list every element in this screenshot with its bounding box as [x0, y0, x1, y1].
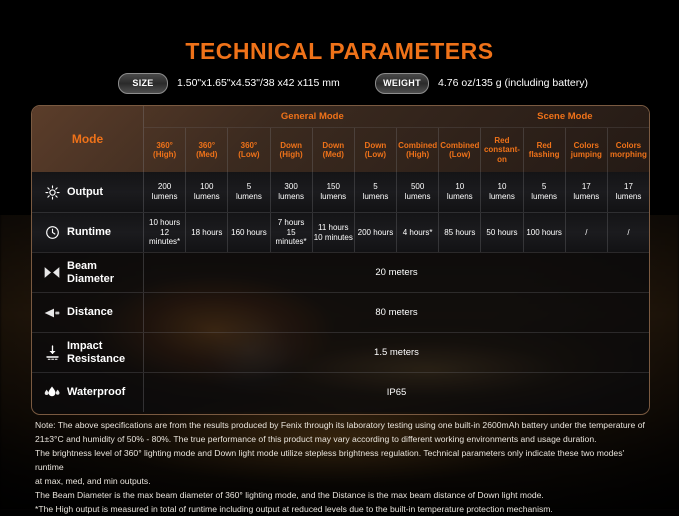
row-label-cell: Runtime	[32, 213, 144, 252]
row-label-text: BeamDiameter	[67, 260, 114, 285]
footnote-line: The brightness level of 360° lighting mo…	[35, 447, 647, 475]
mode-column-header: 360°(Low)	[227, 128, 269, 172]
mode-column-header: Down(High)	[270, 128, 312, 172]
table-row: BeamDiameter20 meters	[32, 252, 649, 292]
row-label-cell: Waterproof	[32, 373, 144, 412]
data-cell: 160 hours	[227, 213, 269, 252]
data-cell: 10lumens	[438, 172, 480, 212]
footnote-line: Note: The above specifications are from …	[35, 419, 647, 433]
table-body: Output200lumens100lumens5lumens300lumens…	[32, 172, 649, 412]
data-cell: 300lumens	[270, 172, 312, 212]
footnote-line: *The High output is measured in total of…	[35, 503, 647, 516]
data-cell: 50 hours	[480, 213, 522, 252]
data-cell: /	[565, 213, 607, 252]
data-cell: 100 hours	[523, 213, 565, 252]
data-cell: 5lumens	[523, 172, 565, 212]
mode-column-header: Redflashing	[523, 128, 565, 172]
spec-summary-bar: SIZE 1.50"x1.65"x4.53"/38 x42 x115 mm WE…	[0, 70, 679, 96]
table-row: Distance80 meters	[32, 292, 649, 332]
row-label-text: Waterproof	[67, 386, 125, 399]
data-cell: 18 hours	[185, 213, 227, 252]
data-cell: 100lumens	[185, 172, 227, 212]
mode-column-header: Down(Med)	[312, 128, 354, 172]
mode-column-header: Redconstant-on	[480, 128, 522, 172]
merged-value-cell: 80 meters	[144, 293, 649, 332]
data-cell: 200 hours	[354, 213, 396, 252]
sun-icon	[44, 185, 60, 200]
row-label-text: ImpactResistance	[67, 340, 125, 365]
row-label-text: Runtime	[67, 226, 111, 239]
footnotes: Note: The above specifications are from …	[35, 419, 647, 516]
mode-column-header: Combined(Low)	[438, 128, 480, 172]
specifications-table: Mode General Mode Scene Mode 360°(High)3…	[31, 105, 650, 415]
footnote-line: at max, med, and min outputs.	[35, 475, 647, 489]
table-row: Output200lumens100lumens5lumens300lumens…	[32, 172, 649, 212]
footnote-line: 21±3°C and humidity of 50% - 80%. The tr…	[35, 433, 647, 447]
row-label-cell: Output	[32, 172, 144, 212]
impact-icon	[44, 345, 60, 361]
row-label-cell: BeamDiameter	[32, 253, 144, 292]
row-label-text: Distance	[67, 306, 113, 319]
mode-columns-row: 360°(High)360°(Med)360°(Low)Down(High)Do…	[144, 127, 649, 172]
data-cell: 5lumens	[227, 172, 269, 212]
table-row: WaterproofIP65	[32, 372, 649, 412]
data-cell: 4 hours*	[396, 213, 438, 252]
data-cell: 150lumens	[312, 172, 354, 212]
row-label-cell: ImpactResistance	[32, 333, 144, 372]
data-cell: /	[607, 213, 649, 252]
footnote-line: The Beam Diameter is the max beam diamet…	[35, 489, 647, 503]
data-cell: 10lumens	[480, 172, 522, 212]
table-row: Runtime10 hours12 minutes*18 hours160 ho…	[32, 212, 649, 252]
data-cell: 5lumens	[354, 172, 396, 212]
table-header-row: Mode General Mode Scene Mode 360°(High)3…	[32, 106, 649, 172]
size-badge: SIZE	[118, 73, 168, 94]
data-cell: 200lumens	[144, 172, 185, 212]
row-label-cell: Distance	[32, 293, 144, 332]
data-cell: 10 hours12 minutes*	[144, 213, 185, 252]
beam-diameter-icon	[44, 266, 60, 279]
weight-value: 4.76 oz/135 g (including battery)	[438, 77, 588, 89]
waterproof-icon	[44, 385, 60, 400]
weight-spec-group: WEIGHT 4.76 oz/135 g (including battery)	[375, 70, 588, 96]
data-cell: 17lumens	[565, 172, 607, 212]
data-cell: 500lumens	[396, 172, 438, 212]
clock-icon	[44, 225, 60, 240]
data-cell: 17lumens	[607, 172, 649, 212]
mode-group-row: General Mode Scene Mode	[144, 106, 649, 127]
merged-value-cell: IP65	[144, 373, 649, 412]
mode-column-header: Combined(High)	[396, 128, 438, 172]
data-cell: 85 hours	[438, 213, 480, 252]
mode-column-header: Down(Low)	[354, 128, 396, 172]
table-row: ImpactResistance1.5 meters	[32, 332, 649, 372]
merged-value-cell: 20 meters	[144, 253, 649, 292]
mode-column-header: 360°(High)	[144, 128, 185, 172]
group-scene-mode: Scene Mode	[481, 106, 649, 127]
merged-value-cell: 1.5 meters	[144, 333, 649, 372]
data-cell: 11 hours10 minutes	[312, 213, 354, 252]
row-label-text: Output	[67, 186, 103, 199]
size-value: 1.50"x1.65"x4.53"/38 x42 x115 mm	[177, 77, 340, 89]
page-title: TECHNICAL PARAMETERS	[0, 38, 679, 65]
distance-icon	[44, 307, 60, 319]
mode-header-cell: Mode	[32, 106, 144, 172]
mode-column-header: Colorsjumping	[565, 128, 607, 172]
data-cell: 7 hours15 minutes*	[270, 213, 312, 252]
group-general-mode: General Mode	[144, 106, 481, 127]
mode-column-header: 360°(Med)	[185, 128, 227, 172]
size-spec-group: SIZE 1.50"x1.65"x4.53"/38 x42 x115 mm	[118, 70, 340, 96]
mode-column-header: Colorsmorphing	[607, 128, 649, 172]
weight-badge: WEIGHT	[375, 73, 429, 94]
